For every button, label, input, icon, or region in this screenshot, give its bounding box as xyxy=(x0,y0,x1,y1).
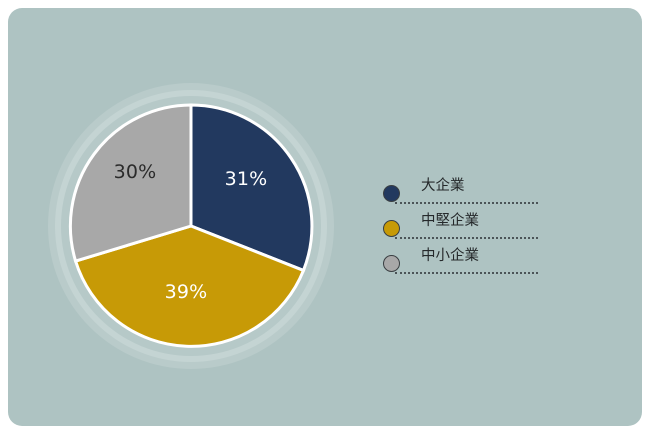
legend-dotted-rule xyxy=(395,202,538,204)
legend-item-large-enterprise[interactable]: 大企業 xyxy=(383,176,613,211)
legend-swatch-icon-sme xyxy=(383,255,400,272)
legend-label-large-enterprise: 大企業 xyxy=(421,176,465,197)
legend-item-sme[interactable]: 中小企業 xyxy=(383,246,613,281)
pie-label-large-enterprise: 31% xyxy=(225,168,268,190)
pie-chart-area: 31% 39% 30% xyxy=(8,8,368,426)
chart-panel: 31% 39% 30% 大企業 中堅企業 中小企業 xyxy=(8,8,642,426)
pie-chart-svg: 31% 39% 30% xyxy=(46,81,336,371)
legend-dotted-rule xyxy=(395,237,538,239)
pie-label-midsize-enterprise: 39% xyxy=(165,281,208,303)
legend-item-midsize-enterprise[interactable]: 中堅企業 xyxy=(383,211,613,246)
legend-swatch-icon-large-enterprise xyxy=(383,185,400,202)
legend-dotted-rule xyxy=(395,272,538,274)
legend-label-midsize-enterprise: 中堅企業 xyxy=(421,211,479,232)
legend-swatch-icon-midsize-enterprise xyxy=(383,220,400,237)
chart-legend: 大企業 中堅企業 中小企業 xyxy=(383,176,613,281)
pie-label-sme: 30% xyxy=(114,161,157,183)
legend-label-sme: 中小企業 xyxy=(421,246,479,267)
